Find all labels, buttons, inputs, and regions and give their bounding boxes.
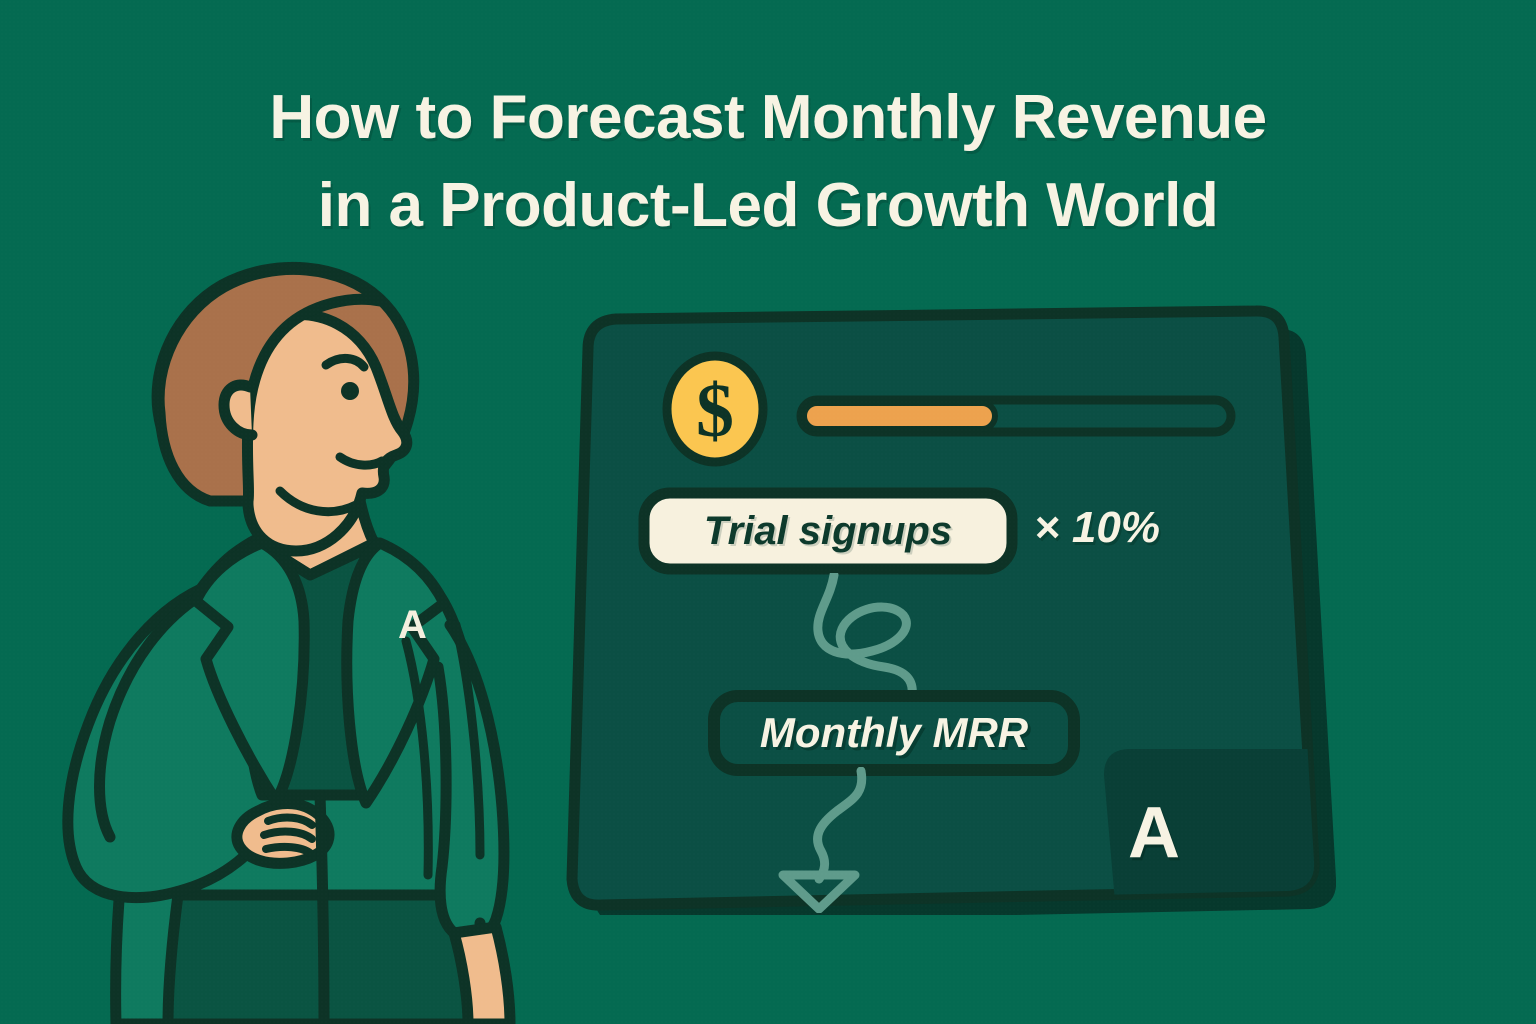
right-hand-shape bbox=[454, 927, 510, 1024]
jacket-center-seam bbox=[320, 795, 324, 1024]
forecast-card: $ Trial signups × 10% bbox=[556, 305, 1336, 915]
dollar-coin-icon: $ bbox=[660, 350, 770, 468]
trial-signups-label: Trial signups bbox=[638, 487, 1018, 575]
trial-signups-pill[interactable]: Trial signups bbox=[638, 487, 1018, 575]
squiggle-arrow-down-icon bbox=[761, 767, 911, 913]
progress-fill bbox=[804, 403, 995, 429]
lapel-pin-letter: A bbox=[398, 605, 427, 645]
title-line-1: How to Forecast Monthly Revenue bbox=[0, 74, 1536, 162]
ear bbox=[224, 385, 252, 435]
monthly-mrr-pill[interactable]: Monthly MRR bbox=[708, 690, 1080, 776]
eye bbox=[341, 382, 359, 400]
squiggle-loop-icon bbox=[786, 573, 966, 699]
card-badge-letter: A bbox=[1128, 797, 1180, 869]
page-title: How to Forecast Monthly Revenue in a Pro… bbox=[0, 74, 1536, 250]
monthly-mrr-label: Monthly MRR bbox=[708, 690, 1080, 776]
right-sleeve bbox=[438, 625, 504, 939]
dollar-symbol: $ bbox=[696, 369, 734, 453]
title-line-2: in a Product-Led Growth World bbox=[0, 162, 1536, 250]
multiplier-label: × 10% bbox=[1034, 503, 1160, 553]
illustration-canvas: How to Forecast Monthly Revenue in a Pro… bbox=[0, 0, 1536, 1024]
woman-profile-illustration bbox=[10, 255, 610, 1024]
progress-bar[interactable] bbox=[796, 395, 1236, 437]
